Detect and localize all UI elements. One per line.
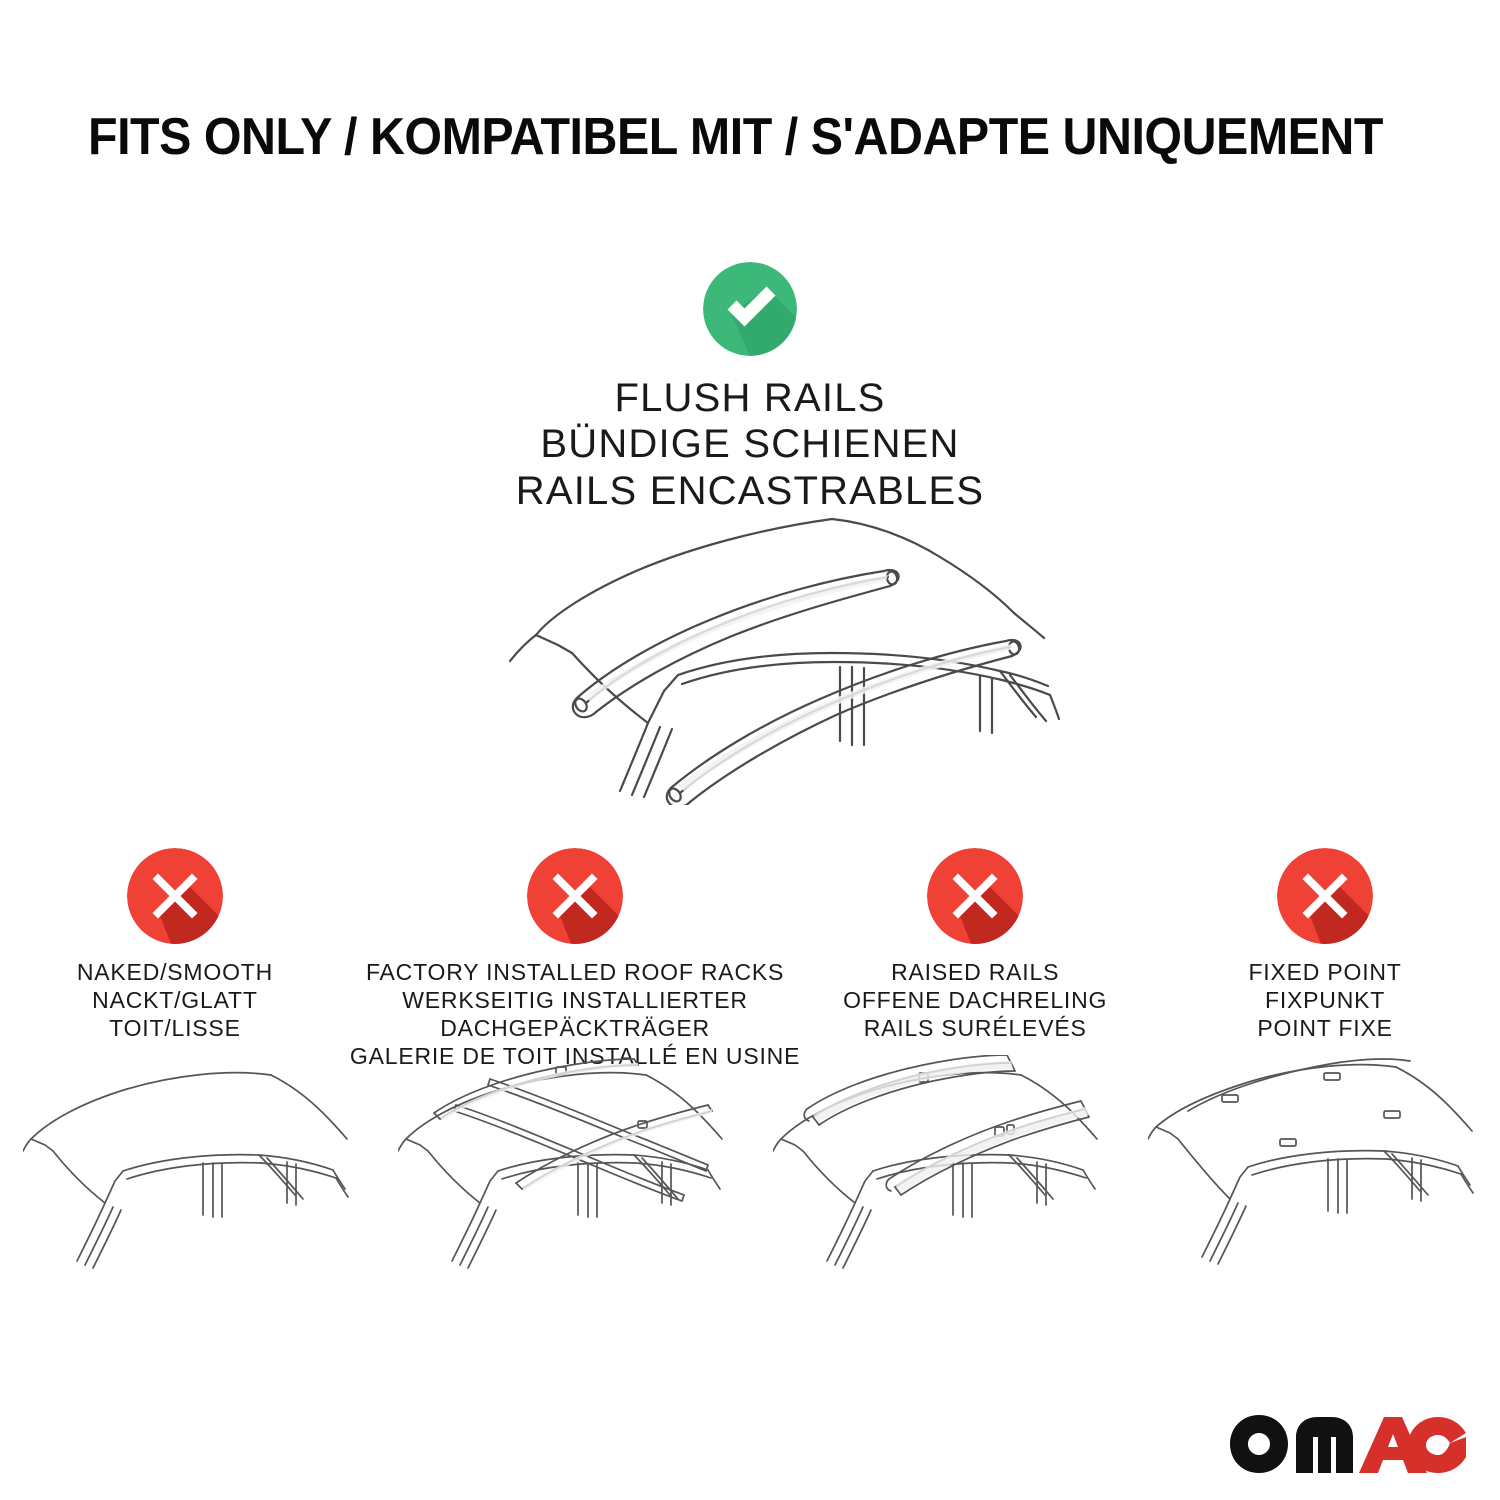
compatibility-infographic: FITS ONLY / KOMPATIBEL MIT / S'ADAPTE UN…: [0, 0, 1500, 1500]
page-title: FITS ONLY / KOMPATIBEL MIT / S'ADAPTE UN…: [88, 110, 1334, 165]
car-roof-naked-illustration: [0, 1055, 375, 1315]
label-line: FIXED POINT: [1248, 958, 1401, 986]
roof-illustration-row: [0, 1055, 1500, 1315]
label-line: POINT FIXE: [1248, 1014, 1401, 1042]
car-roof-fixed-point-illustration: [1125, 1055, 1500, 1315]
omac-logo-mark: [1228, 1413, 1468, 1475]
compatible-label-de: BÜNDIGE SCHIENEN: [0, 421, 1500, 467]
label-line: RAILS SURÉLEVÉS: [843, 1014, 1107, 1042]
label-line: OFFENE DACHRELING: [843, 986, 1107, 1014]
incompatible-label-factory-roof-racks: FACTORY INSTALLED ROOF RACKS WERKSEITIG …: [350, 958, 800, 1070]
car-roof-flush-rails-illustration: [440, 495, 1060, 805]
compatible-section: FLUSH RAILS BÜNDIGE SCHIENEN RAILS ENCAS…: [0, 262, 1500, 514]
label-line: FACTORY INSTALLED ROOF RACKS: [350, 958, 800, 986]
omac-logo: [1228, 1413, 1468, 1475]
label-line: TOIT/LISSE: [77, 1014, 273, 1042]
car-roof-raised-rails-illustration: [750, 1055, 1125, 1315]
x-circle-icon: [127, 848, 223, 944]
label-line: NACKT/GLATT: [77, 986, 273, 1014]
label-line: DACHGEPÄCKTRÄGER: [350, 1014, 800, 1042]
x-circle-icon: [527, 848, 623, 944]
incompatible-label-raised-rails: RAISED RAILS OFFENE DACHRELING RAILS SUR…: [843, 958, 1107, 1042]
x-circle-icon: [927, 848, 1023, 944]
check-circle-icon: [703, 262, 797, 356]
label-line: FIXPUNKT: [1248, 986, 1401, 1014]
compatible-label-en: FLUSH RAILS: [0, 375, 1500, 421]
label-line: NAKED/SMOOTH: [77, 958, 273, 986]
incompatible-label-naked-smooth: NAKED/SMOOTH NACKT/GLATT TOIT/LISSE: [77, 958, 273, 1042]
car-roof-factory-rack-illustration: [375, 1055, 750, 1315]
label-line: WERKSEITIG INSTALLIERTER: [350, 986, 800, 1014]
incompatible-label-fixed-point: FIXED POINT FIXPUNKT POINT FIXE: [1248, 958, 1401, 1042]
label-line: RAISED RAILS: [843, 958, 1107, 986]
x-circle-icon: [1277, 848, 1373, 944]
compatible-labels: FLUSH RAILS BÜNDIGE SCHIENEN RAILS ENCAS…: [0, 375, 1500, 514]
